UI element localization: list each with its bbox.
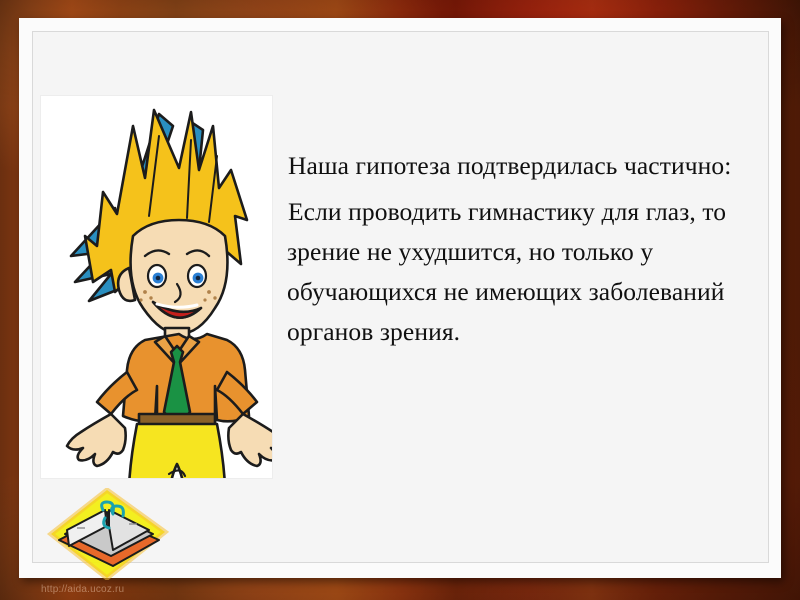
slide-text-block: Наша гипотеза подтвердилась частично: Ес… (287, 146, 743, 358)
presentation-slide: Наша гипотеза подтвердилась частично: Ес… (0, 0, 800, 600)
slide-panel: Наша гипотеза подтвердилась частично: Ес… (19, 18, 781, 578)
book-icon (41, 488, 179, 580)
cartoon-boy-icon (41, 96, 272, 478)
paragraph-conclusion: Если проводить гимнастику для глаз, то з… (287, 192, 743, 352)
open-book-decoration (41, 488, 179, 580)
character-image-box (40, 95, 273, 479)
paragraph-hypothesis: Наша гипотеза подтвердилась частично: (287, 146, 743, 186)
source-watermark: http://aida.ucoz.ru (41, 584, 124, 595)
